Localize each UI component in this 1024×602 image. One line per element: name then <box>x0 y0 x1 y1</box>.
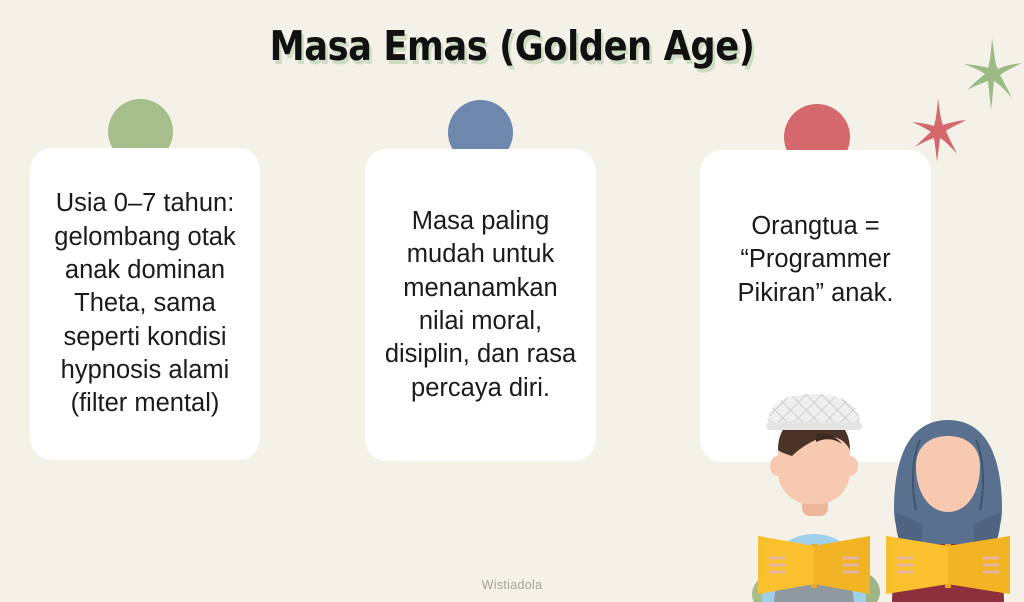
slide-canvas: Masa Emas (Golden Age) Usia 0–7 tahun: g… <box>0 0 1024 602</box>
info-card-3-text: Orangtua = “Programmer Pikiran” anak. <box>738 210 894 310</box>
info-card-2-text: Masa paling mudah untuk menanamkan nilai… <box>385 205 576 405</box>
watermark: Wistiadola <box>0 578 1024 592</box>
info-card-1: Usia 0–7 tahun: gelombang otak anak domi… <box>30 148 260 460</box>
info-card-3: Orangtua = “Programmer Pikiran” anak. <box>700 150 931 462</box>
info-card-1-text: Usia 0–7 tahun: gelombang otak anak domi… <box>54 187 235 421</box>
sparkle-star-green-icon <box>962 38 1022 115</box>
info-card-2: Masa paling mudah untuk menanamkan nilai… <box>365 149 596 461</box>
page-title: Masa Emas (Golden Age) <box>72 22 953 70</box>
